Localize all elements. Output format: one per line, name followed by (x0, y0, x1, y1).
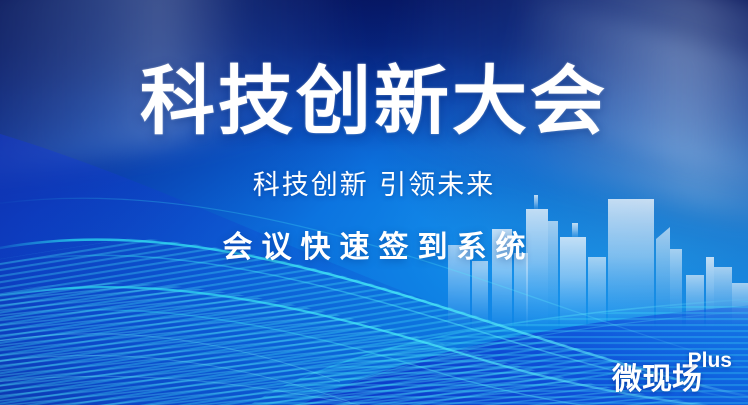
conference-poster-banner: 科技创新大会 科技创新 引领未来 会议快速签到系统 微现场 Plus (0, 0, 748, 405)
brand-watermark-suffix: Plus (688, 350, 732, 371)
page-title: 科技创新大会 (0, 64, 748, 139)
page-subtitle: 科技创新 引领未来 (0, 163, 748, 202)
system-tagline: 会议快速签到系统 (0, 222, 748, 266)
brand-watermark: 微现场 Plus (584, 341, 734, 397)
